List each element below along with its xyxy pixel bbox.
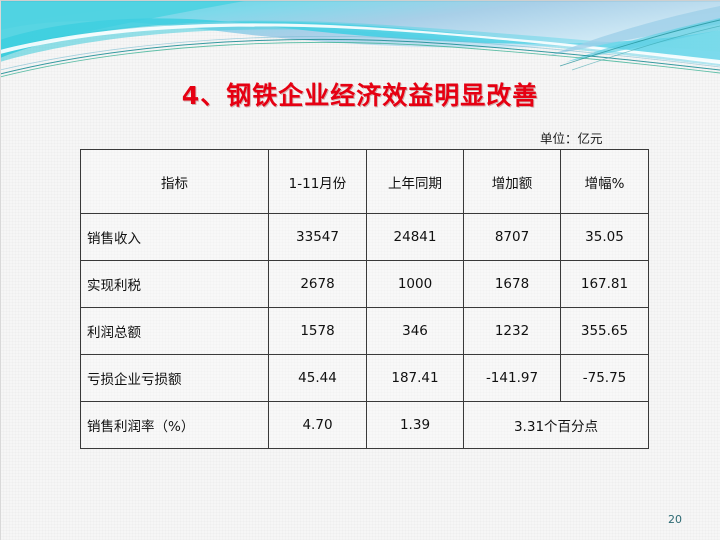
column-header-prior: 上年同期	[367, 150, 464, 214]
table-row: 亏损企业亏损额 45.44 187.41 -141.97 -75.75	[81, 355, 649, 402]
cell-sales-revenue-prior: 24841	[367, 214, 464, 261]
column-header-indicator: 指标	[81, 150, 269, 214]
unit-caption: 单位：亿元	[540, 128, 603, 147]
economic-indicators-table: 指标 1-11月份 上年同期 增加额 增幅% 销售收入 33547 24841 …	[80, 149, 649, 449]
table-row: 实现利税 2678 1000 1678 167.81	[81, 261, 649, 308]
cell-profit-and-tax-prior: 1000	[367, 261, 464, 308]
cell-profit-and-tax-growth: 167.81	[561, 261, 649, 308]
cell-total-profit-current: 1578	[269, 308, 367, 355]
cell-loss-making-current: 45.44	[269, 355, 367, 402]
table-row: 利润总额 1578 346 1232 355.65	[81, 308, 649, 355]
row-label-profit-and-tax: 实现利税	[81, 261, 269, 308]
cell-total-profit-prior: 346	[367, 308, 464, 355]
row-label-sales-profit-margin: 销售利润率（%）	[81, 402, 269, 449]
slide-canvas: 4、钢铁企业经济效益明显改善 单位：亿元 指标 1-11月份 上年同期 增加额 …	[0, 0, 720, 540]
table-row: 销售收入 33547 24841 8707 35.05	[81, 214, 649, 261]
row-label-loss-making-enterprises: 亏损企业亏损额	[81, 355, 269, 402]
cell-sales-revenue-growth: 35.05	[561, 214, 649, 261]
row-label-total-profit: 利润总额	[81, 308, 269, 355]
slide-title: 4、钢铁企业经济效益明显改善	[0, 76, 720, 112]
cell-loss-making-growth: -75.75	[561, 355, 649, 402]
row-label-sales-revenue: 销售收入	[81, 214, 269, 261]
column-header-delta: 增加额	[464, 150, 561, 214]
page-number: 20	[668, 513, 682, 526]
cell-total-profit-delta: 1232	[464, 308, 561, 355]
column-header-growth: 增幅%	[561, 150, 649, 214]
cell-sales-revenue-current: 33547	[269, 214, 367, 261]
table-container: 指标 1-11月份 上年同期 增加额 增幅% 销售收入 33547 24841 …	[80, 149, 648, 449]
table-row: 销售利润率（%） 4.70 1.39 3.31个百分点	[81, 402, 649, 449]
cell-sales-profit-margin-merged: 3.31个百分点	[464, 402, 649, 449]
table-header-row: 指标 1-11月份 上年同期 增加额 增幅%	[81, 150, 649, 214]
column-header-current: 1-11月份	[269, 150, 367, 214]
cell-sales-profit-margin-prior: 1.39	[367, 402, 464, 449]
cell-sales-revenue-delta: 8707	[464, 214, 561, 261]
cell-total-profit-growth: 355.65	[561, 308, 649, 355]
cell-sales-profit-margin-current: 4.70	[269, 402, 367, 449]
cell-loss-making-delta: -141.97	[464, 355, 561, 402]
cell-profit-and-tax-delta: 1678	[464, 261, 561, 308]
decorative-wave-banner	[0, 0, 720, 78]
cell-loss-making-prior: 187.41	[367, 355, 464, 402]
cell-profit-and-tax-current: 2678	[269, 261, 367, 308]
